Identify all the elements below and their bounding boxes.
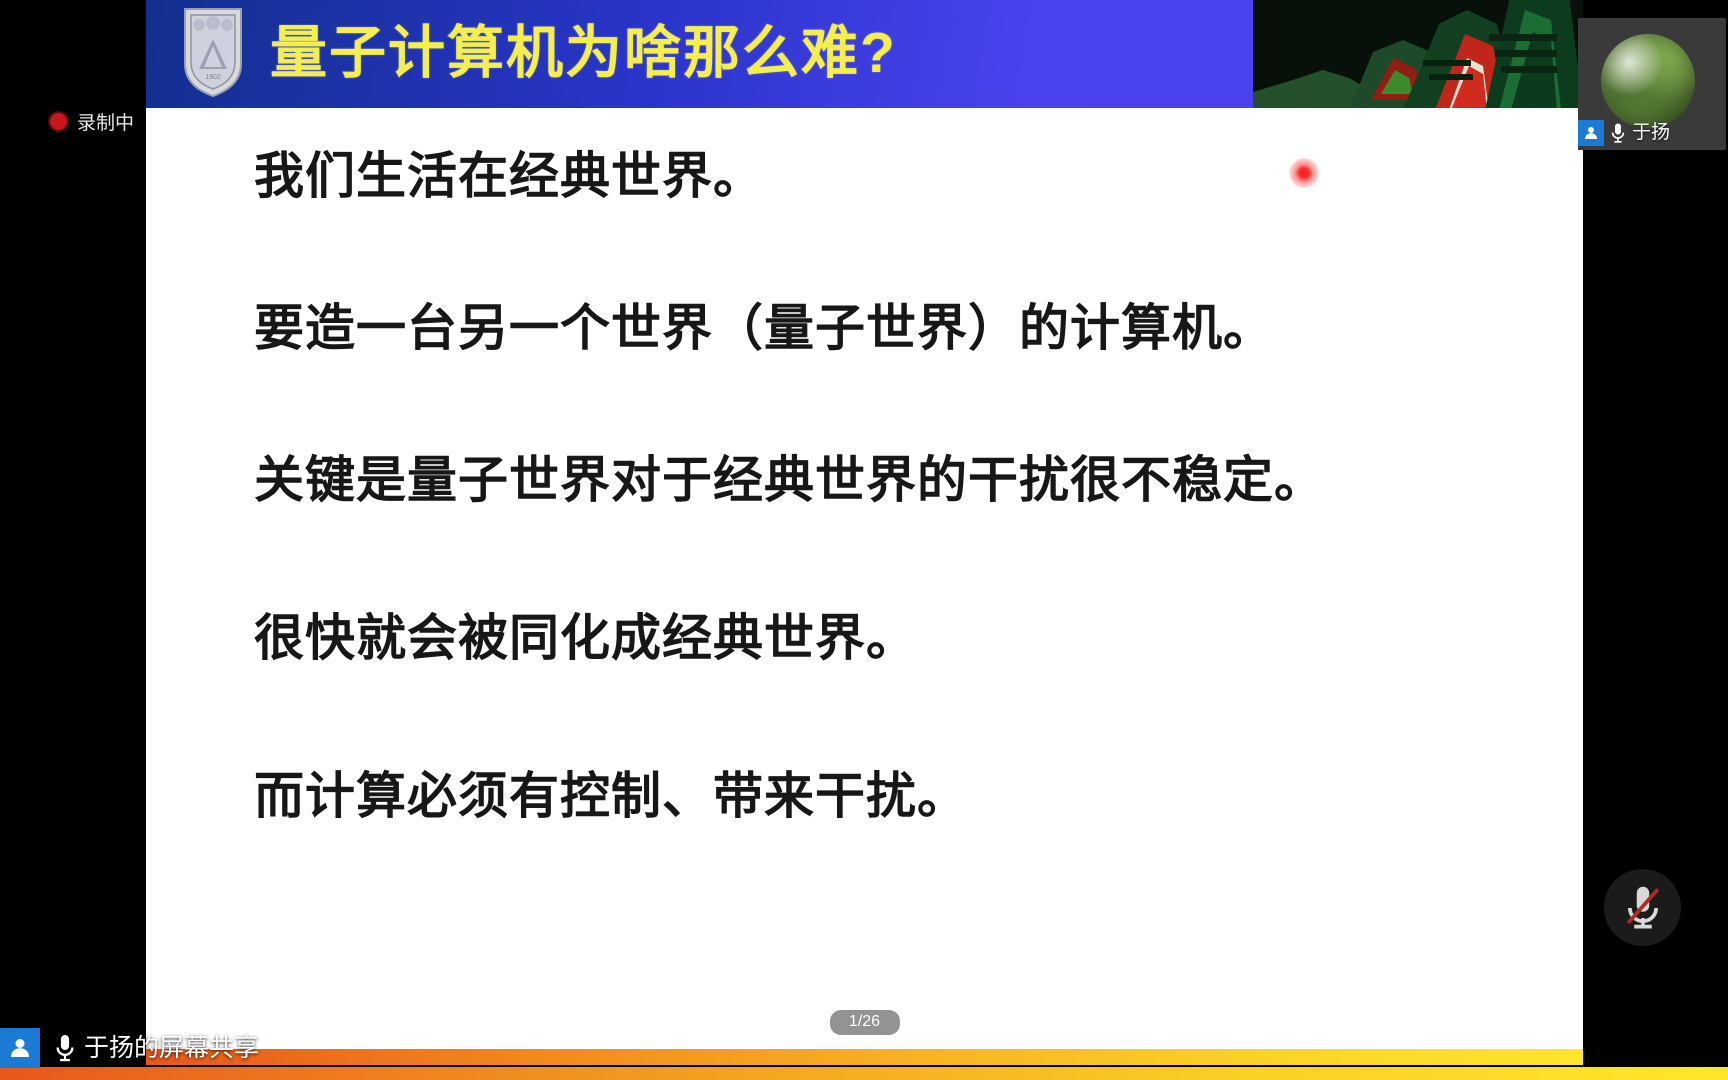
microphone-muted-icon [1621, 883, 1665, 933]
nanjing-university-crest-icon: 1902 [182, 6, 244, 98]
screen-share-indicator: 于扬的屏幕共享 [0, 1028, 259, 1068]
svg-text:1902: 1902 [205, 74, 221, 81]
slide-line-5: 而计算必须有控制、带来干扰。 [254, 756, 968, 828]
mute-toggle-button[interactable] [1604, 869, 1681, 946]
bottom-accent-bar [0, 1067, 1728, 1080]
slide-line-2: 要造一台另一个世界（量子世界）的计算机。 [254, 288, 1274, 360]
slide-title-banner: 1902 量子计算机为啥那么难? [146, 0, 1583, 108]
shared-slide-document: 1902 量子计算机为啥那么难? [146, 0, 1583, 1065]
page-indicator: 1/26 [830, 1010, 900, 1035]
temple-roof-photo [1253, 0, 1583, 108]
slide-line-3: 关键是量子世界对于经典世界的干扰很不稳定。 [254, 440, 1325, 512]
slide-line-4: 很快就会被同化成经典世界。 [254, 598, 917, 670]
recording-indicator[interactable]: 录制中 [50, 108, 134, 135]
slide-title: 量子计算机为啥那么难? [270, 7, 897, 99]
recording-label: 录制中 [77, 108, 134, 135]
screen-share-label: 于扬的屏幕共享 [84, 1033, 259, 1063]
record-dot-icon [50, 113, 67, 130]
person-icon [1578, 120, 1604, 146]
participant-name-bar: 于扬 [1578, 120, 1670, 146]
screen-share-viewport: 1902 量子计算机为啥那么难? [0, 0, 1728, 1080]
microphone-icon [1610, 122, 1626, 144]
avatar [1601, 34, 1695, 128]
letterbox-left [0, 0, 146, 1080]
person-icon [0, 1028, 40, 1068]
slide-body: 我们生活在经典世界。 要造一台另一个世界（量子世界）的计算机。 关键是量子世界对… [146, 108, 1583, 1028]
participant-video-tile[interactable]: 于扬 [1578, 18, 1726, 150]
participant-name: 于扬 [1632, 122, 1670, 144]
slide-accent-bar [146, 1049, 1583, 1065]
microphone-icon [54, 1033, 76, 1063]
laser-pointer-dot-icon [1289, 158, 1319, 188]
slide-line-1: 我们生活在经典世界。 [254, 136, 764, 208]
